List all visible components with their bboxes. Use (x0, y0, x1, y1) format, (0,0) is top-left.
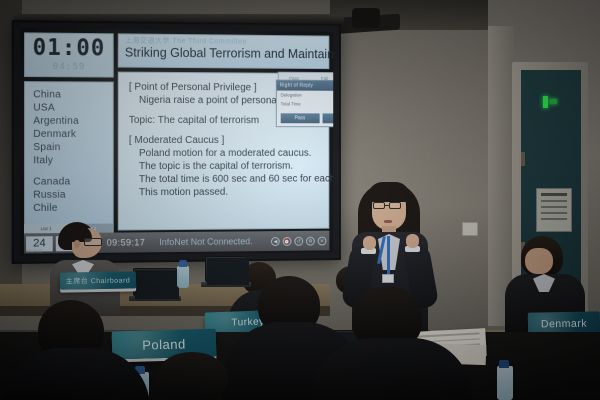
door-hinge-icon (521, 152, 525, 166)
slide-body-line: Poland motion for a moderated caucus. (129, 147, 319, 160)
power-outlet (462, 222, 478, 236)
list-gap (33, 167, 112, 175)
speakers-list-item[interactable]: Argentina (33, 115, 112, 128)
slide-body-line: The topic is the capital of terrorism. (129, 160, 319, 173)
plate-chair: 主席台 Chairboard (60, 271, 136, 289)
slide-body: [ Point of Personal Privilege ]Nigeria r… (118, 72, 330, 231)
delegate-with-glasses (48, 222, 124, 312)
dialog-fail-button[interactable]: Fail (322, 113, 333, 123)
back-icon[interactable]: ↺ (294, 236, 303, 245)
settings-icon[interactable]: ⚙ (306, 236, 315, 245)
slide-body-line: [ Moderated Caucus ] (129, 134, 319, 147)
ceiling-mount (352, 8, 380, 28)
slide-title: Striking Global Terrorism and Maintainin… (125, 45, 333, 61)
speakers-list-item[interactable]: Spain (33, 141, 112, 154)
dialog-title: Right of Reply (277, 81, 333, 91)
plate-poland-label: Poland (142, 336, 186, 352)
clock-icon[interactable]: ⏰ (283, 236, 292, 245)
status-bar-icons: ◀ ⏰ ↺ ⚙ ✕ (271, 236, 329, 245)
plate-denmark-label: Denmark (541, 318, 587, 331)
speakers-list[interactable]: ChinaUSAArgentinaDenmarkSpainItaly Canad… (24, 81, 114, 235)
dialog-pass-button[interactable]: Pass (281, 113, 319, 123)
speakers-list-item[interactable]: USA (33, 101, 112, 114)
eyeglasses-icon (84, 238, 102, 246)
slide-body-line: This motion passed. (129, 185, 319, 199)
dialog-total-time-row: Total Time (277, 99, 333, 108)
eyeglasses-icon (373, 202, 385, 209)
foreground-head (156, 352, 228, 400)
presenter-hand (363, 236, 376, 250)
speakers-list-item[interactable]: Italy (33, 154, 112, 167)
timer-secondary-value: 04:59 (53, 62, 86, 72)
speakers-list-item[interactable]: Denmark (33, 128, 112, 141)
speakers-list-group-a: ChinaUSAArgentinaDenmarkSpainItaly (33, 88, 112, 167)
right-of-reply-dialog[interactable]: Right of Reply Delegation || Total Time … (276, 80, 333, 128)
slide-header: 上海交通大学 The Third Committee Striking Glob… (118, 33, 330, 69)
dialog-buttons: Pass Fail (281, 113, 333, 123)
timer-main-value: 01:00 (33, 37, 106, 60)
slide-watermark: MUNO (26, 248, 43, 253)
door-notice (536, 188, 572, 232)
dialog-delegation-label: Delegation (281, 93, 302, 98)
presenter-fringe (368, 182, 410, 202)
debate-timer[interactable]: 01:00 04:59 (24, 32, 114, 77)
exit-sign (543, 96, 559, 108)
conference-room-photo: 01:00 04:59 ChinaUSAArgentinaDenmarkSpai… (0, 0, 600, 400)
badge (382, 274, 394, 283)
presenter-hand (406, 234, 419, 248)
laptop[interactable] (205, 256, 251, 287)
dialog-total-time-label: Total Time (281, 101, 301, 106)
plate-chair-label: 主席台 Chairboard (66, 275, 131, 286)
slide-body-line: The total time is 600 sec and 60 sec for… (129, 173, 319, 187)
water-bottle (497, 366, 513, 400)
dialog-delegation-row: Delegation || (277, 91, 333, 100)
connection-status: InfoNet Not Connected. (159, 236, 252, 247)
speakers-list-item[interactable]: Russia (33, 188, 112, 202)
speakers-list-item[interactable]: Canada (33, 175, 112, 188)
laptop[interactable] (133, 268, 181, 301)
eyeglasses-icon (389, 202, 401, 209)
speakers-list-item[interactable]: China (33, 88, 112, 102)
prev-icon[interactable]: ◀ (271, 237, 280, 246)
close-icon[interactable]: ✕ (318, 236, 327, 245)
water-bottle (177, 266, 189, 288)
lanyard (387, 236, 390, 276)
speakers-list-item[interactable]: Chile (33, 201, 112, 215)
speakers-list-group-b: CanadaRussiaChile (33, 175, 112, 215)
